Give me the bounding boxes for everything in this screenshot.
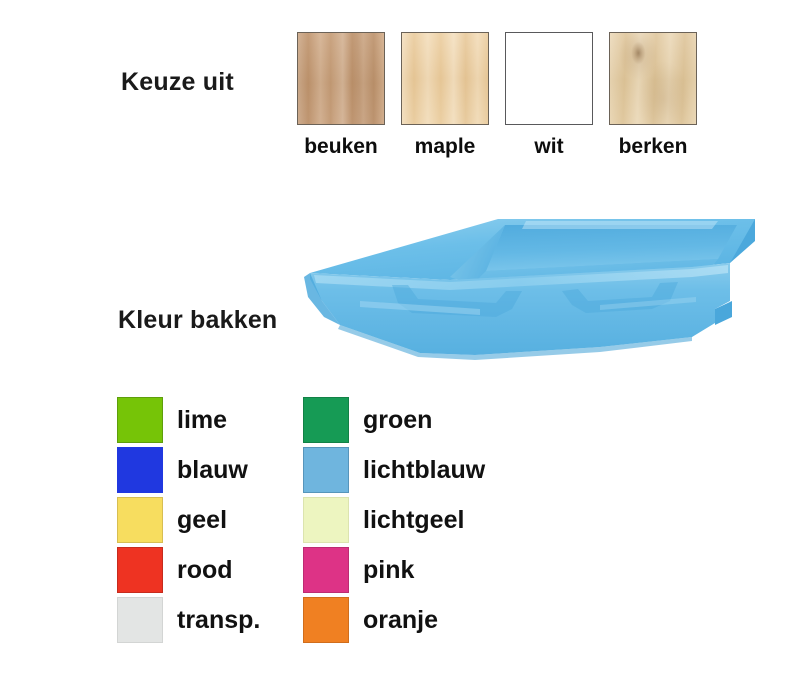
colour-label-pink: pink: [363, 558, 414, 583]
product-image-tray: [300, 205, 760, 365]
legend-row: transp. oranje: [117, 595, 677, 645]
finish-label-wit: wit: [534, 135, 563, 159]
colour-swatch-rood[interactable]: [117, 547, 163, 593]
colour-label-geel: geel: [177, 508, 227, 533]
colour-label-lichtblauw: lichtblauw: [363, 458, 485, 483]
colour-label-blauw: blauw: [177, 458, 248, 483]
legend-row: blauw lichtblauw: [117, 445, 677, 495]
colour-option-geel[interactable]: geel: [117, 497, 303, 543]
colour-option-oranje[interactable]: oranje: [303, 597, 438, 643]
colour-swatch-groen[interactable]: [303, 397, 349, 443]
colour-swatch-oranje[interactable]: [303, 597, 349, 643]
finish-swatch-maple[interactable]: [401, 32, 489, 125]
finish-swatch-wit[interactable]: [505, 32, 593, 125]
colour-option-lichtgeel[interactable]: lichtgeel: [303, 497, 464, 543]
finish-option-wit[interactable]: wit: [504, 32, 594, 159]
finish-label-beuken: beuken: [304, 135, 378, 159]
colour-swatch-lichtgeel[interactable]: [303, 497, 349, 543]
finish-swatch-row: beuken maple wit berken: [296, 32, 698, 159]
finish-option-maple[interactable]: maple: [400, 32, 490, 159]
legend-row: geel lichtgeel: [117, 495, 677, 545]
finish-swatch-berken[interactable]: [609, 32, 697, 125]
colour-label-lime: lime: [177, 408, 227, 433]
finish-option-berken[interactable]: berken: [608, 32, 698, 159]
finish-swatch-beuken[interactable]: [297, 32, 385, 125]
colour-label-oranje: oranje: [363, 608, 438, 633]
finish-option-beuken[interactable]: beuken: [296, 32, 386, 159]
colour-option-groen[interactable]: groen: [303, 397, 432, 443]
colour-label-lichtgeel: lichtgeel: [363, 508, 464, 533]
colour-option-rood[interactable]: rood: [117, 547, 303, 593]
colour-option-transp[interactable]: transp.: [117, 597, 303, 643]
finish-label-maple: maple: [415, 135, 476, 159]
colour-swatch-geel[interactable]: [117, 497, 163, 543]
colour-swatch-blauw[interactable]: [117, 447, 163, 493]
colour-label-groen: groen: [363, 408, 432, 433]
colour-label-rood: rood: [177, 558, 233, 583]
colour-swatch-transp[interactable]: [117, 597, 163, 643]
colour-option-blauw[interactable]: blauw: [117, 447, 303, 493]
page-title-colour: Kleur bakken: [118, 306, 277, 335]
colour-option-lichtblauw[interactable]: lichtblauw: [303, 447, 485, 493]
colour-label-transp: transp.: [177, 608, 260, 633]
finish-label-berken: berken: [619, 135, 688, 159]
colour-swatch-pink[interactable]: [303, 547, 349, 593]
colour-swatch-lichtblauw[interactable]: [303, 447, 349, 493]
legend-row: rood pink: [117, 545, 677, 595]
colour-option-pink[interactable]: pink: [303, 547, 414, 593]
colour-legend: lime groen blauw lichtblauw geel lichtge…: [117, 395, 677, 645]
colour-option-lime[interactable]: lime: [117, 397, 303, 443]
colour-swatch-lime[interactable]: [117, 397, 163, 443]
page-title-finish: Keuze uit: [121, 68, 234, 97]
legend-row: lime groen: [117, 395, 677, 445]
